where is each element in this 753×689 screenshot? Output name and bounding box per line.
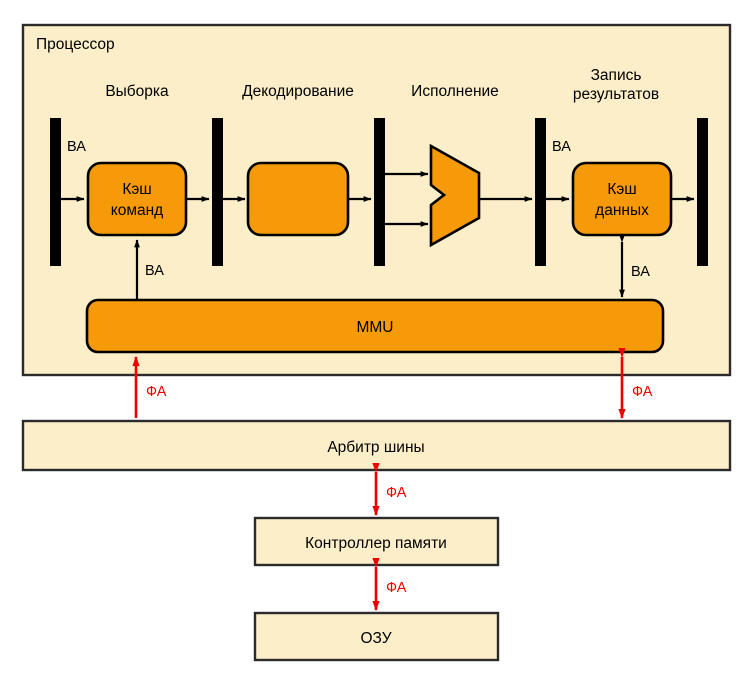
stage-label-decode: Декодирование <box>242 83 354 100</box>
stage-label-execute: Исполнение <box>411 83 499 100</box>
va-label-writeback: ВА <box>552 139 571 155</box>
diagram-canvas: Процессор Выборка Декодирование Исполнен… <box>0 0 753 689</box>
pipeline-latch-2 <box>212 118 223 266</box>
pipeline-latch-5 <box>697 118 708 266</box>
bus-arbiter-block: Арбитр шины <box>23 421 730 470</box>
instruction-cache-box <box>88 163 186 235</box>
pipeline-latch-4 <box>535 118 546 266</box>
fa-label-memctl-ram: ФА <box>386 580 407 596</box>
instruction-cache-label-line2: команд <box>111 202 163 219</box>
pipeline-latch-1 <box>50 118 61 266</box>
stage-label-writeback-line1: Запись <box>591 67 642 84</box>
data-cache-box <box>573 163 671 235</box>
va-label-fetch-input: ВА <box>67 139 86 155</box>
cpu-memory-block-diagram: Процессор Выборка Декодирование Исполнен… <box>0 0 753 689</box>
stage-label-fetch: Выборка <box>105 83 169 100</box>
pipeline-latch-3 <box>374 118 385 266</box>
decoder-box <box>248 163 348 235</box>
fa-label-arbiter-memctl: ФА <box>386 485 407 501</box>
mmu-label: MMU <box>356 319 393 336</box>
stage-label-writeback-line2: результатов <box>573 86 659 103</box>
data-cache-label-line2: данных <box>595 202 649 219</box>
processor-title: Процессор <box>36 36 115 53</box>
fa-label-left: ФА <box>146 384 167 400</box>
ram-block: ОЗУ <box>255 613 498 660</box>
va-label-mmu-icache: ВА <box>145 263 164 279</box>
ram-label: ОЗУ <box>360 630 391 647</box>
memory-controller-block: Контроллер памяти <box>255 518 498 565</box>
bus-arbiter-label: Арбитр шины <box>327 439 424 456</box>
mmu-block: MMU <box>87 300 663 352</box>
instruction-cache-label-line1: Кэш <box>122 181 151 198</box>
va-label-dcache-mmu: ВА <box>631 264 650 280</box>
pa-labels-upper: ФА ФА <box>146 384 653 400</box>
data-cache-label-line1: Кэш <box>607 181 636 198</box>
memory-controller-label: Контроллер памяти <box>305 535 447 552</box>
fa-label-right: ФА <box>632 384 653 400</box>
